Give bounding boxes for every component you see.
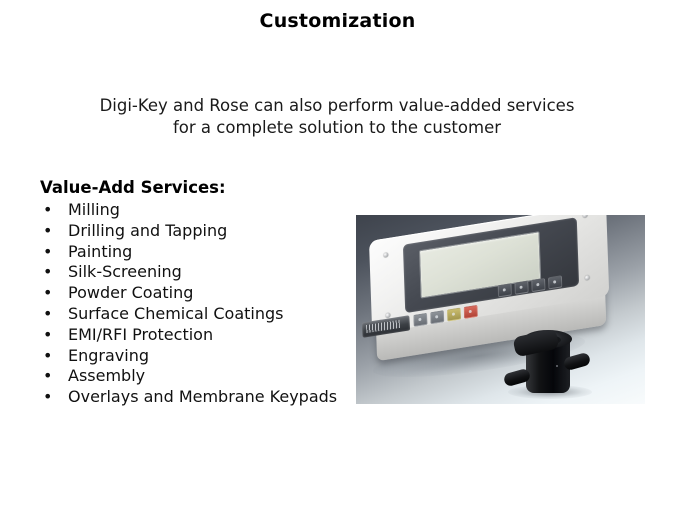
bullet-icon: • (43, 366, 52, 387)
list-item-label: Silk-Screening (68, 262, 182, 281)
bullet-icon: • (43, 262, 52, 283)
subtitle-line-1: Digi-Key and Rose can also perform value… (38, 95, 636, 117)
list-item-label: Powder Coating (68, 283, 193, 302)
keypad-button[interactable] (514, 281, 528, 295)
list-item: • Milling (40, 200, 340, 221)
list-item: • Overlays and Membrane Keypads (40, 387, 340, 408)
bullet-icon: • (43, 283, 52, 304)
screw-icon (583, 215, 588, 218)
product-photo (356, 215, 645, 404)
list-item: • Assembly (40, 366, 340, 387)
list-item-label: Surface Chemical Coatings (68, 304, 283, 323)
list-item-label: Engraving (68, 346, 149, 365)
mounting-bracket (504, 327, 590, 401)
list-item: • Powder Coating (40, 283, 340, 304)
subtitle-line-2: for a complete solution to the customer (38, 117, 636, 139)
list-item: • Engraving (40, 346, 340, 367)
bullet-icon: • (43, 325, 52, 346)
keypad-button[interactable] (531, 278, 545, 292)
list-item-label: Milling (68, 200, 120, 219)
screw-icon (383, 252, 388, 258)
list-item-label: Painting (68, 242, 132, 261)
keypad-button[interactable] (430, 310, 444, 324)
list-item-label: EMI/RFI Protection (68, 325, 213, 344)
list-item: • Silk-Screening (40, 262, 340, 283)
bullet-icon: • (43, 387, 52, 408)
list-item-label: Assembly (68, 366, 145, 385)
list-item: • Drilling and Tapping (40, 221, 340, 242)
keypad-button[interactable] (413, 313, 427, 327)
list-item: • Painting (40, 242, 340, 263)
list-item-label: Overlays and Membrane Keypads (68, 387, 337, 406)
bullet-icon: • (43, 304, 52, 325)
list-item-label: Drilling and Tapping (68, 221, 227, 240)
slide-canvas: Customization Digi-Key and Rose can also… (0, 0, 675, 506)
keypad-button[interactable] (498, 283, 512, 297)
value-add-services-list: • Milling • Drilling and Tapping • Paint… (40, 200, 340, 408)
keypad-button[interactable] (548, 275, 562, 289)
screw-icon (585, 275, 590, 281)
list-item: • Surface Chemical Coatings (40, 304, 340, 325)
bullet-icon: • (43, 221, 52, 242)
bullet-icon: • (43, 242, 52, 263)
bullet-icon: • (43, 200, 52, 221)
keypad-button[interactable] (447, 307, 461, 321)
keypad-button[interactable] (464, 305, 478, 319)
bracket-set-screw-icon (556, 365, 558, 367)
list-item: • EMI/RFI Protection (40, 325, 340, 346)
section-heading: Value-Add Services: (40, 178, 226, 197)
bullet-icon: • (43, 346, 52, 367)
page-title: Customization (0, 10, 675, 32)
subtitle-block: Digi-Key and Rose can also perform value… (38, 95, 636, 139)
display-bezel (403, 217, 579, 313)
